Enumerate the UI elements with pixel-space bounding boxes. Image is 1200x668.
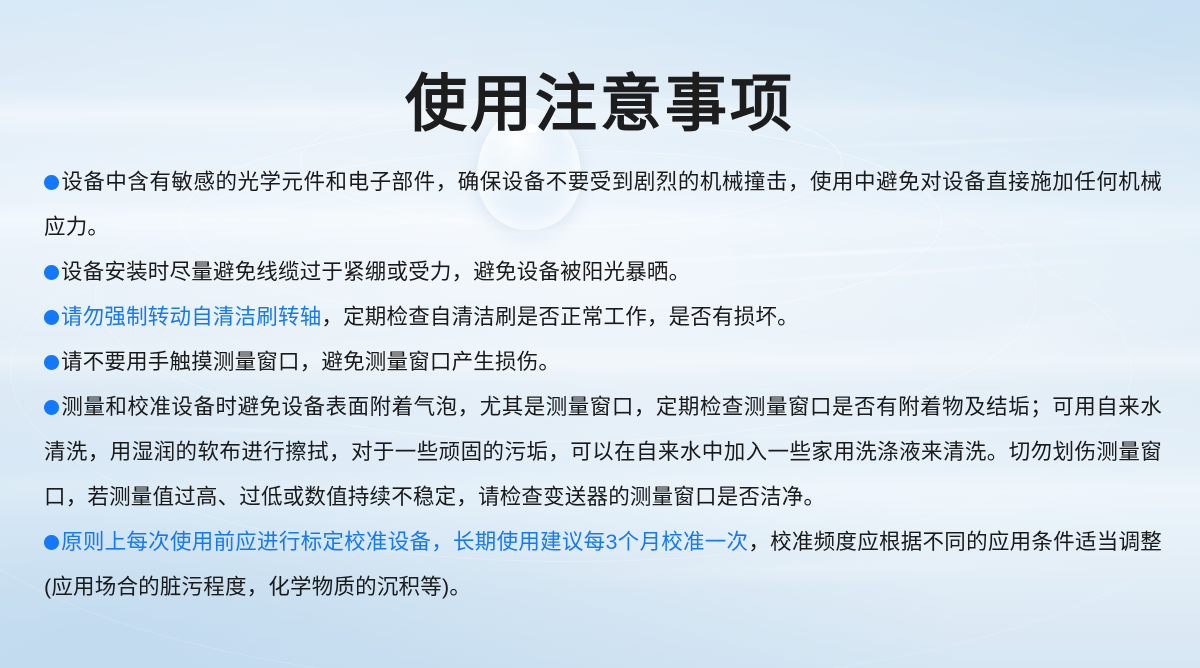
bullet-dot-icon <box>44 175 59 190</box>
note-item: 原则上每次使用前应进行标定校准设备，长期使用建议每3个月校准一次，校准频度应根据… <box>44 520 1162 610</box>
note-item: 设备中含有敏感的光学元件和电子部件，确保设备不要受到剧烈的机械撞击，使用中避免对… <box>44 160 1162 250</box>
note-text-emphasis: 原则上每次使用前应进行标定校准设备，长期使用建议每3个月校准一次 <box>61 530 748 554</box>
bullet-dot-icon <box>44 265 59 280</box>
content-layer: 使用注意事项 设备中含有敏感的光学元件和电子部件，确保设备不要受到剧烈的机械撞击… <box>0 0 1200 668</box>
note-item: 测量和校准设备时避免设备表面附着气泡，尤其是测量窗口，定期检查测量窗口是否有附着… <box>44 385 1162 520</box>
note-item: 请勿强制转动自清洁刷转轴，定期检查自清洁刷是否正常工作，是否有损坏。 <box>44 295 1162 340</box>
bullet-dot-icon <box>44 400 59 415</box>
note-item: 请不要用手触摸测量窗口，避免测量窗口产生损伤。 <box>44 340 1162 385</box>
bullet-dot-icon <box>44 310 59 325</box>
note-text: 设备安装时尽量避免线缆过于紧绷或受力，避免设备被阳光暴晒。 <box>61 260 690 284</box>
notes-list: 设备中含有敏感的光学元件和电子部件，确保设备不要受到剧烈的机械撞击，使用中避免对… <box>44 160 1162 610</box>
note-text-emphasis: 请勿强制转动自清洁刷转轴 <box>61 305 321 329</box>
bullet-dot-icon <box>44 355 59 370</box>
page-title: 使用注意事项 <box>0 71 1200 139</box>
page-root: 使用注意事项 设备中含有敏感的光学元件和电子部件，确保设备不要受到剧烈的机械撞击… <box>0 0 1200 668</box>
note-text: 设备中含有敏感的光学元件和电子部件，确保设备不要受到剧烈的机械撞击，使用中避免对… <box>44 170 1162 239</box>
note-text: 请不要用手触摸测量窗口，避免测量窗口产生损伤。 <box>61 350 560 374</box>
bullet-dot-icon <box>44 535 59 550</box>
note-item: 设备安装时尽量避免线缆过于紧绷或受力，避免设备被阳光暴晒。 <box>44 250 1162 295</box>
note-text: 测量和校准设备时避免设备表面附着气泡，尤其是测量窗口，定期检查测量窗口是否有附着… <box>44 395 1162 509</box>
note-text: ，定期检查自清洁刷是否正常工作，是否有损坏。 <box>321 305 798 329</box>
